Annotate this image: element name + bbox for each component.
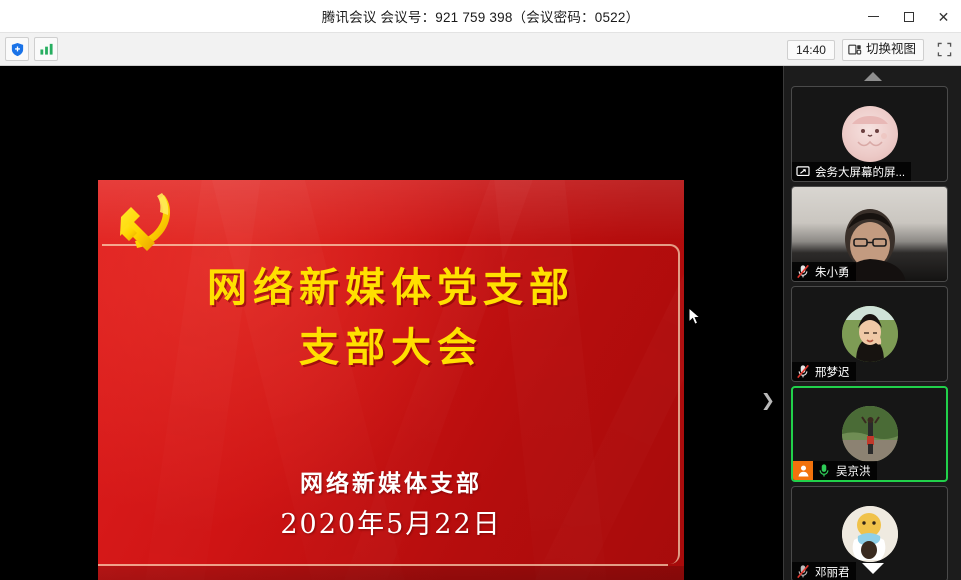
close-icon: ✕ xyxy=(938,10,950,24)
signal-bars-icon xyxy=(39,42,54,56)
tencent-meeting-window: 腾讯会议 会议号：921 759 398（会议密码：0522） ✕ xyxy=(0,0,961,580)
participant-panel: 会务大屏幕的屏... xyxy=(783,66,961,580)
minimize-icon xyxy=(868,16,879,17)
window-controls: ✕ xyxy=(856,0,961,33)
participant-name: 邢梦迟 xyxy=(813,364,850,380)
triangle-down-icon xyxy=(862,563,884,574)
avatar xyxy=(842,106,898,162)
network-status-button[interactable] xyxy=(34,37,58,61)
participant-tile-list: 会务大屏幕的屏... xyxy=(784,86,961,580)
slide-title-line2: 支部大会 xyxy=(98,318,684,378)
participant-badge: 吴京洪 xyxy=(793,461,877,480)
cpc-hammer-sickle-emblem xyxy=(107,185,185,267)
switch-view-button[interactable]: 切换视图 xyxy=(842,39,924,61)
maximize-icon xyxy=(904,12,914,22)
avatar xyxy=(842,306,898,362)
collapse-panel-chevron-icon[interactable]: ❯ xyxy=(761,393,775,410)
fullscreen-icon xyxy=(937,42,952,57)
mic-on-icon xyxy=(813,461,834,480)
presentation-slide: 网络新媒体党支部 支部大会 网络新媒体支部 2020年5月22日 xyxy=(98,180,684,580)
scroll-down-button[interactable] xyxy=(784,558,961,578)
meeting-clock: 14:40 xyxy=(787,40,835,60)
woman-outdoor-avatar-icon xyxy=(842,306,898,362)
participant-tile[interactable]: 邢梦迟 xyxy=(791,286,948,382)
layout-switch-icon xyxy=(848,43,862,57)
participant-name: 朱小勇 xyxy=(813,264,850,280)
switch-view-label: 切换视图 xyxy=(866,43,916,56)
slide-top-band xyxy=(98,180,684,240)
participant-tile[interactable]: 朱小勇 xyxy=(791,186,948,282)
maximize-button[interactable] xyxy=(891,0,926,33)
participant-tile[interactable]: 会务大屏幕的屏... xyxy=(791,86,948,182)
window-title: 腾讯会议 会议号：921 759 398（会议密码：0522） xyxy=(322,6,640,26)
avatar xyxy=(842,406,898,462)
participant-tile-active[interactable]: 吴京洪 xyxy=(791,386,948,482)
slide-bottom-band xyxy=(98,566,684,580)
mouse-cursor-icon xyxy=(688,307,701,327)
slide-subtitle: 网络新媒体支部 xyxy=(98,464,684,498)
mic-muted-icon xyxy=(792,262,813,281)
participant-badge: 朱小勇 xyxy=(792,262,856,281)
plush-toy-avatar-icon xyxy=(842,506,898,562)
security-shield-button[interactable] xyxy=(5,37,29,61)
toolbar-right-group: 14:40 切换视图 xyxy=(787,33,957,66)
title-bar: 腾讯会议 会议号：921 759 398（会议密码：0522） ✕ xyxy=(0,0,961,33)
close-button[interactable]: ✕ xyxy=(926,0,961,33)
participant-name: 会务大屏幕的屏... xyxy=(813,164,905,180)
toolbar: 14:40 切换视图 xyxy=(0,33,961,66)
triangle-up-icon xyxy=(864,72,882,81)
participant-name: 吴京洪 xyxy=(834,463,871,479)
screen-share-icon xyxy=(792,162,813,181)
fullscreen-button[interactable] xyxy=(931,38,957,62)
slide-date: 2020年5月22日 xyxy=(98,502,684,541)
minimize-button[interactable] xyxy=(856,0,891,33)
slide-title-line1: 网络新媒体党支部 xyxy=(98,258,684,318)
mochi-cat-avatar-icon xyxy=(842,106,898,162)
participant-badge: 会务大屏幕的屏... xyxy=(792,162,911,181)
shield-plus-icon xyxy=(10,42,25,57)
shared-screen-stage: 网络新媒体党支部 支部大会 网络新媒体支部 2020年5月22日 ❯ xyxy=(0,66,783,580)
participant-badge: 邢梦迟 xyxy=(792,362,856,381)
mic-muted-icon xyxy=(792,362,813,381)
scroll-up-button[interactable] xyxy=(784,68,961,84)
slide-title: 网络新媒体党支部 支部大会 xyxy=(98,258,684,378)
basketball-player-avatar-icon xyxy=(842,406,898,462)
toolbar-left-group xyxy=(5,37,58,61)
host-badge-icon xyxy=(793,461,813,480)
avatar xyxy=(842,506,898,562)
